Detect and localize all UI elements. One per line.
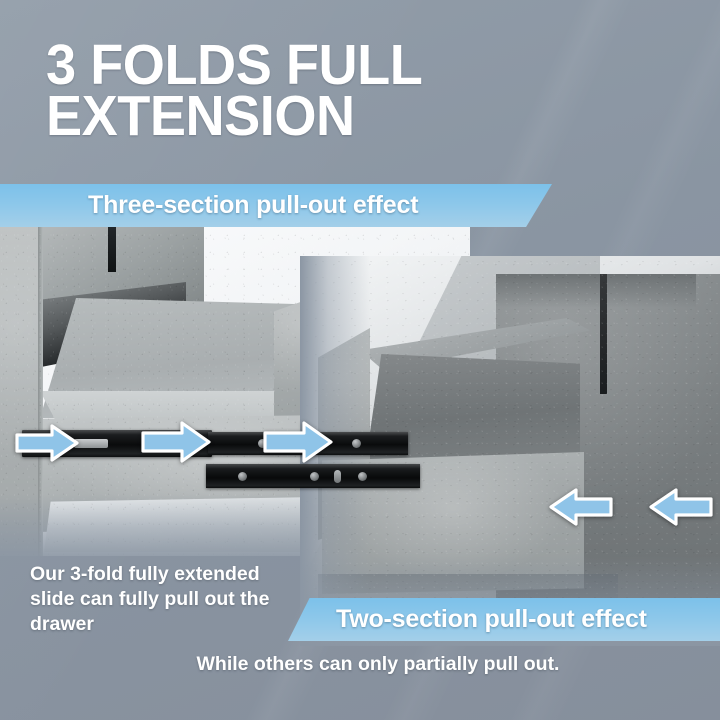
headline-line-2: EXTENSION	[46, 91, 654, 142]
promo-image-canvas: 3 FOLDS FULL EXTENSION Three-section pul…	[0, 0, 720, 720]
pull-out-arrow-left-2	[648, 487, 714, 527]
pull-out-arrow-right-2	[140, 420, 212, 464]
caption-left: Our 3-fold fully extended slide can full…	[30, 562, 300, 637]
rail-bolt	[238, 472, 247, 481]
caption-bottom-text: While others can only partially pull out…	[161, 653, 560, 676]
rail-bolt	[358, 472, 367, 481]
two-section-slide-rail	[206, 464, 420, 488]
caption-bottom: While others can only partially pull out…	[0, 653, 720, 676]
pull-out-arrow-right-1	[14, 423, 80, 463]
rail-bolt	[352, 439, 361, 448]
rail-pin	[334, 470, 341, 483]
banner-three-section: Three-section pull-out effect	[0, 184, 552, 227]
banner-two-section-label: Two-section pull-out effect	[336, 605, 647, 634]
rail-bolt	[310, 472, 319, 481]
pull-out-arrow-right-3	[262, 420, 334, 464]
page-title: 3 FOLDS FULL EXTENSION	[46, 40, 654, 142]
banner-three-section-label: Three-section pull-out effect	[88, 191, 418, 220]
banner-two-section: Two-section pull-out effect	[288, 598, 720, 641]
pull-out-arrow-left-1	[548, 487, 614, 527]
